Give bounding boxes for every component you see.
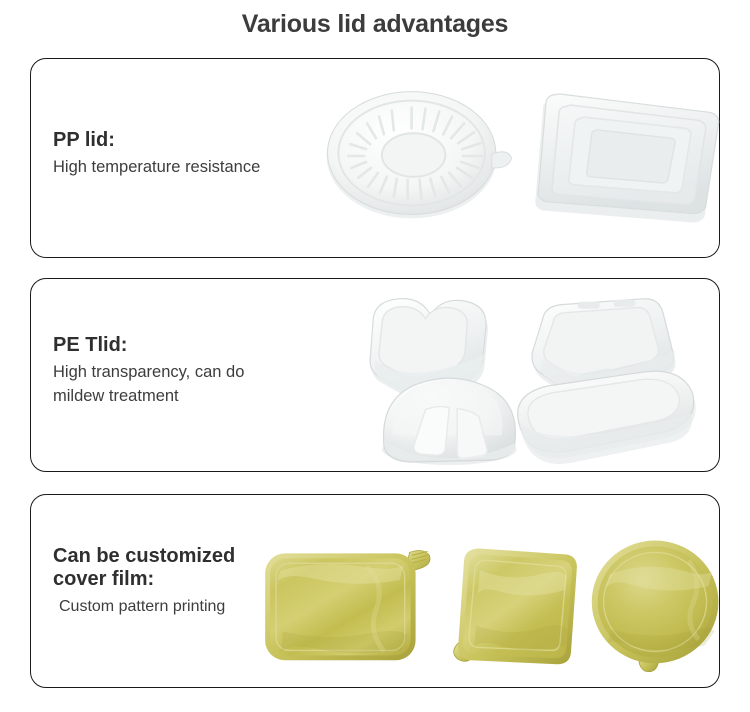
card-pe-lid: PE Tlid: High transparency, can do milde…: [30, 278, 720, 472]
square-dome-pe-lid: [532, 299, 675, 399]
pp-lid-text-block: PP lid: High temperature resistance: [53, 129, 260, 180]
cover-film-text-block: Can be customized cover film: Custom pat…: [53, 545, 235, 619]
pe-lid-text-block: PE Tlid: High transparency, can do milde…: [53, 334, 244, 409]
pe-lid-subtext: High transparency, can do mildew treatme…: [53, 361, 244, 409]
page-title: Various lid advantages: [0, 10, 750, 39]
rectangular-pp-lid: [535, 94, 718, 222]
pp-lid-heading: PP lid:: [53, 129, 260, 152]
round-ribbed-pp-lid: [326, 92, 511, 219]
oval-flat-pe-lid: [518, 371, 696, 464]
card-cover-film: Can be customized cover film: Custom pat…: [30, 494, 720, 688]
gold-square-foil-lid: [454, 548, 577, 664]
heart-shaped-pe-lid: [370, 299, 488, 399]
cover-film-heading: Can be customized cover film:: [53, 545, 235, 591]
card-pp-lid: PP lid: High temperature resistance: [30, 58, 720, 258]
round-dome-pe-lid: [382, 378, 517, 465]
cover-film-subtext: Custom pattern printing: [53, 595, 235, 618]
gold-rectangular-foil-lid: [265, 550, 430, 660]
pe-lid-heading: PE Tlid:: [53, 334, 244, 357]
gold-round-foil-lid: [592, 541, 719, 672]
pp-lid-subtext: High temperature resistance: [53, 156, 260, 180]
